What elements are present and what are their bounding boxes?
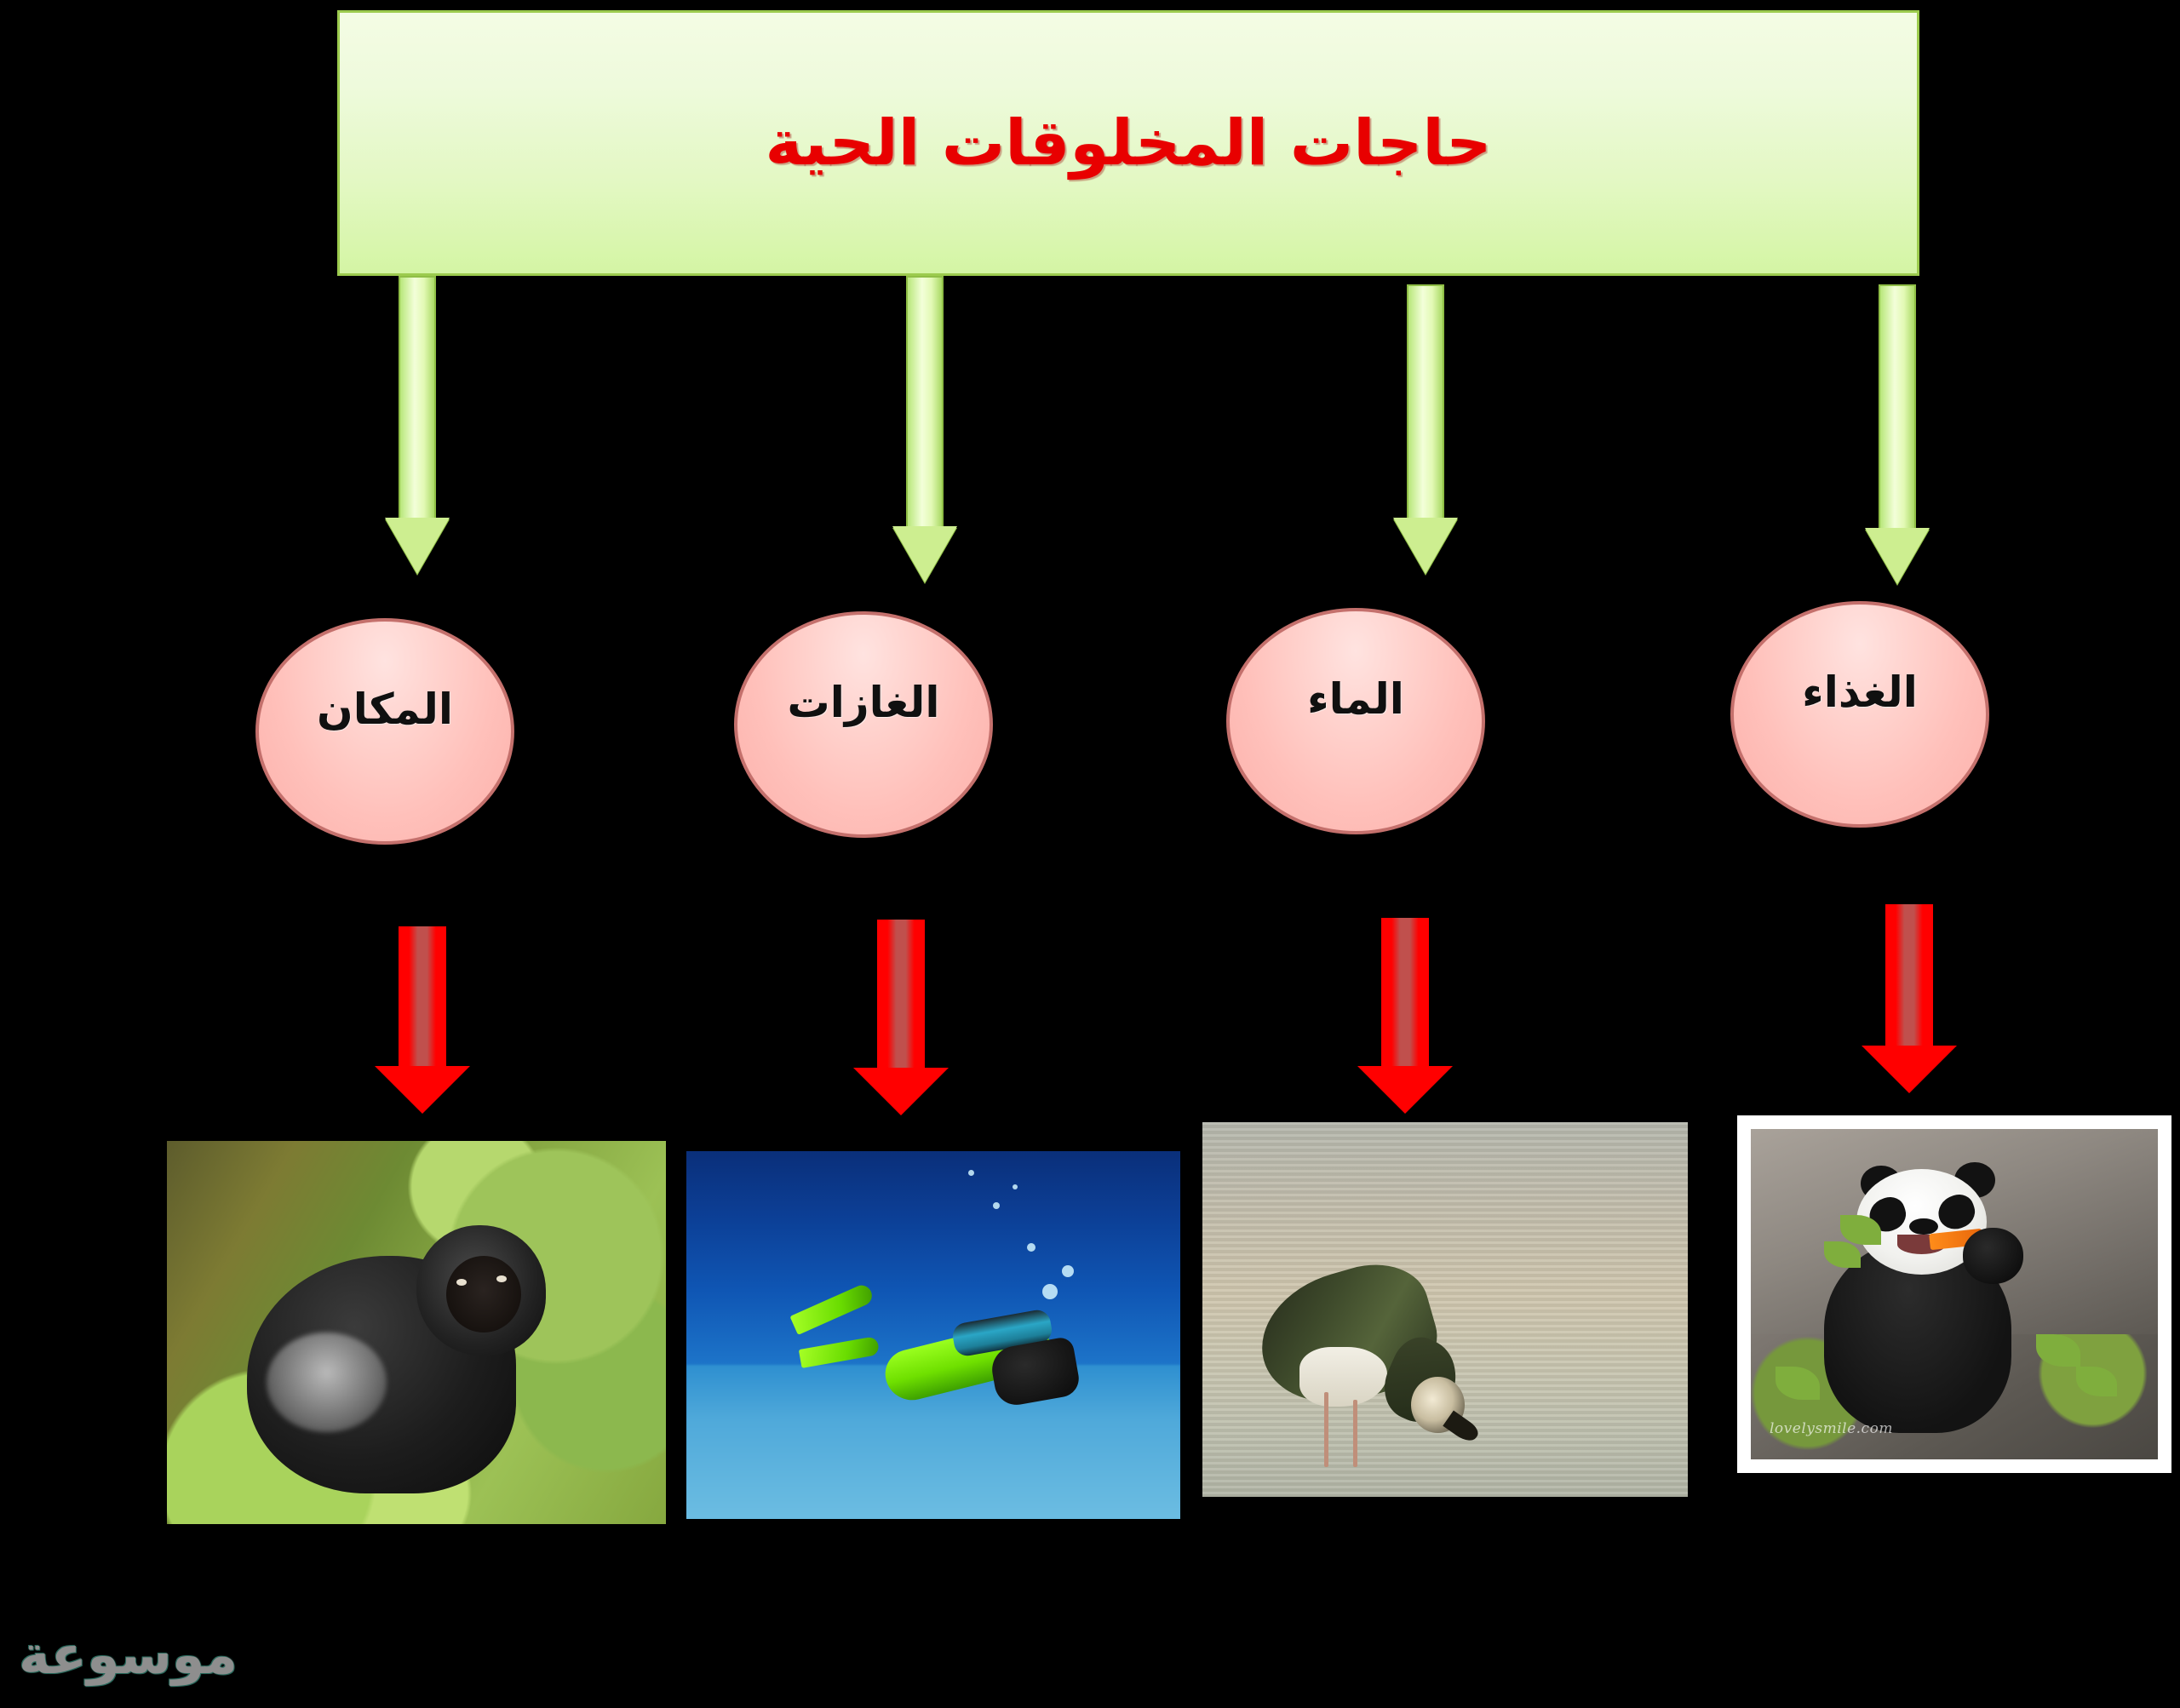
arrow-shaft — [1885, 904, 1933, 1046]
arrow-head — [1357, 1066, 1453, 1114]
bird-leg-front — [1324, 1392, 1328, 1467]
bird-belly — [1299, 1347, 1387, 1407]
node-label: الغذاء — [1802, 668, 1918, 717]
node-label: الماء — [1307, 674, 1404, 724]
leaf-icon — [1776, 1367, 1821, 1400]
arrow-shaft — [399, 926, 446, 1066]
arrow-head — [892, 526, 957, 582]
node-ellipse-maa[interactable]: الماء — [1226, 608, 1485, 834]
photo-bird-drinking-water — [1202, 1122, 1688, 1497]
red-down-arrow-icon-4 — [1862, 904, 1957, 1093]
leaf-icon — [2036, 1334, 2081, 1367]
node-ellipse-ghitha[interactable]: الغذاء — [1730, 601, 1989, 828]
node-ellipse-ghazat[interactable]: الغازات — [734, 611, 993, 838]
site-watermark: موسوعة — [19, 1624, 238, 1686]
leaf-icon — [2076, 1367, 2117, 1396]
green-down-arrow-icon-2 — [892, 276, 957, 582]
arrow-head — [1393, 518, 1458, 574]
underwater-background — [686, 1151, 1180, 1519]
bubble-icon — [1062, 1265, 1074, 1277]
shallow-water-background — [1202, 1122, 1688, 1497]
panda-nose — [1909, 1218, 1937, 1235]
arrow-head — [853, 1068, 949, 1115]
green-down-arrow-icon-1 — [385, 276, 450, 574]
arrow-head — [385, 518, 450, 574]
arrow-head — [375, 1066, 470, 1114]
photo-panda-eating: lovelysmile.com — [1737, 1115, 2171, 1473]
arrow-head — [1865, 528, 1930, 584]
diver-fin-lower — [799, 1336, 880, 1367]
slide-canvas: حاجات المخلوقات الحية المكان الغازات الم… — [0, 0, 2180, 1708]
green-down-arrow-icon-4 — [1865, 284, 1930, 584]
arrow-shaft — [877, 920, 925, 1068]
bubble-icon — [1013, 1184, 1018, 1189]
photo-scuba-diver-underwater — [686, 1151, 1180, 1519]
arrow-head — [1862, 1046, 1957, 1093]
arrow-shaft — [399, 276, 436, 518]
title-box: حاجات المخلوقات الحية — [337, 10, 1919, 276]
gorilla-eye-left — [456, 1279, 467, 1286]
gorilla-face — [446, 1256, 521, 1333]
arrow-shaft — [1407, 284, 1444, 518]
bubble-icon — [1042, 1284, 1058, 1299]
node-label: المكان — [317, 685, 453, 734]
node-label: الغازات — [787, 678, 939, 727]
bird-leg-back — [1353, 1400, 1357, 1467]
panda-paw — [1963, 1228, 2024, 1284]
forest-background — [167, 1141, 666, 1524]
green-down-arrow-icon-3 — [1393, 284, 1458, 574]
bubble-icon — [1027, 1243, 1035, 1252]
arrow-shaft — [1381, 918, 1429, 1066]
arrow-shaft — [1879, 284, 1916, 528]
diver-fin-upper — [789, 1282, 875, 1335]
bubble-icon — [993, 1202, 1000, 1209]
page-title: حاجات المخلوقات الحية — [766, 106, 1492, 180]
red-down-arrow-icon-1 — [375, 926, 470, 1114]
bubble-icon — [968, 1170, 974, 1176]
panda-habitat-background: lovelysmile.com — [1751, 1129, 2158, 1459]
gorilla-eye-right — [496, 1275, 507, 1282]
arrow-shaft — [906, 276, 944, 526]
node-ellipse-makan[interactable]: المكان — [255, 618, 514, 845]
red-down-arrow-icon-2 — [853, 920, 949, 1115]
photo-watermark: lovelysmile.com — [1770, 1420, 1893, 1437]
photo-gorilla-in-forest — [167, 1141, 666, 1524]
red-down-arrow-icon-3 — [1357, 918, 1453, 1114]
gorilla-silverback — [267, 1333, 387, 1432]
